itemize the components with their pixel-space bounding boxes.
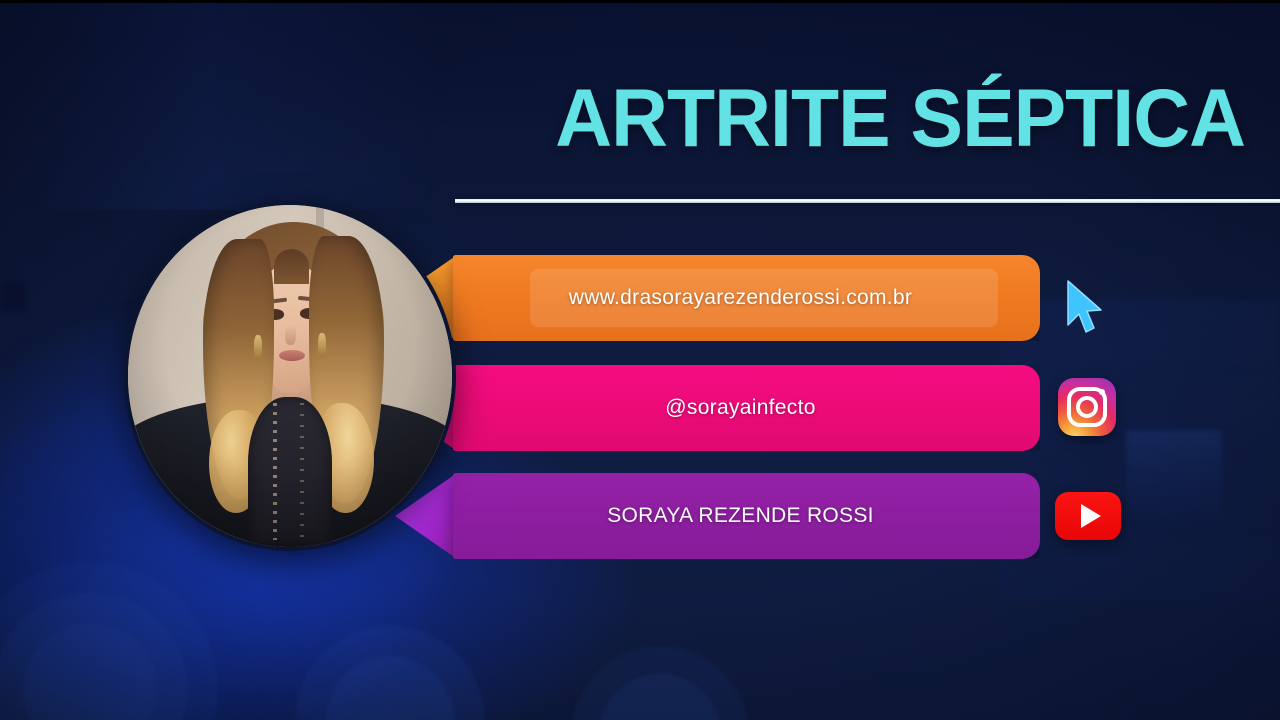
cursor-arrow-glyph	[1062, 278, 1108, 340]
instagram-handle-label: @sorayainfecto	[395, 396, 1040, 420]
contact-ribbon-website[interactable]: www.drasorayarezenderossi.com.br	[395, 255, 1040, 341]
cursor-arrow-icon[interactable]	[1062, 278, 1108, 340]
slide-canvas: ARTRITE SÉPTICA	[0, 0, 1280, 720]
contact-ribbon-instagram[interactable]: @sorayainfecto	[395, 365, 1040, 451]
youtube-glyph	[1055, 492, 1121, 540]
letterbox-top-bar	[0, 0, 1280, 3]
instagram-icon[interactable]	[1058, 378, 1116, 436]
photo-shading	[128, 205, 452, 547]
presenter-avatar	[124, 201, 456, 551]
instagram-lens	[1076, 396, 1098, 418]
contact-ribbon-youtube[interactable]: SORAYA REZENDE ROSSI	[395, 473, 1040, 559]
presenter-photo	[128, 205, 452, 547]
youtube-play-triangle	[1081, 504, 1101, 528]
instagram-dot	[1099, 389, 1105, 395]
youtube-channel-label: SORAYA REZENDE ROSSI	[395, 504, 1040, 528]
youtube-icon[interactable]	[1055, 492, 1121, 540]
instagram-glyph	[1058, 378, 1116, 436]
website-label: www.drasorayarezenderossi.com.br	[395, 286, 1040, 310]
